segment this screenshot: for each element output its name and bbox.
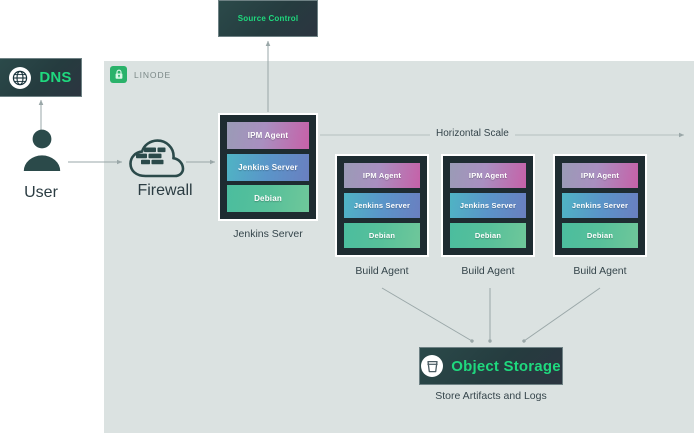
user-label: User [0, 184, 82, 202]
layer-ipm-agent: IPM Agent [227, 122, 309, 149]
layer-jenkins-server: Jenkins Server [344, 193, 420, 218]
layer-ipm-agent: IPM Agent [562, 163, 638, 188]
globe-icon [9, 67, 31, 89]
object-storage-node[interactable]: Object Storage [419, 347, 563, 385]
layer-debian: Debian [450, 223, 526, 248]
linode-provider-label: LINODE [134, 70, 171, 80]
lock-icon [110, 66, 127, 83]
build-agent-caption-1: Build Agent [335, 265, 429, 277]
firewall-cloud-icon [128, 138, 200, 180]
object-storage-label: Object Storage [451, 358, 561, 375]
horizontal-scale-label: Horizontal Scale [430, 128, 515, 139]
build-agent-stack-1[interactable]: IPM Agent Jenkins Server Debian [335, 154, 429, 257]
source-control-node[interactable]: Source Control [218, 0, 318, 37]
source-control-label: Source Control [238, 14, 299, 23]
layer-jenkins-server: Jenkins Server [450, 193, 526, 218]
layer-ipm-agent: IPM Agent [450, 163, 526, 188]
layer-debian: Debian [344, 223, 420, 248]
architecture-diagram-canvas: LINODE DNS Source Control User [0, 0, 694, 433]
bucket-icon [421, 355, 443, 377]
layer-jenkins-server: Jenkins Server [562, 193, 638, 218]
layer-debian: Debian [562, 223, 638, 248]
build-agent-caption-3: Build Agent [553, 265, 647, 277]
layer-debian: Debian [227, 185, 309, 212]
layer-ipm-agent: IPM Agent [344, 163, 420, 188]
dns-node[interactable]: DNS [0, 58, 82, 97]
user-icon [22, 128, 62, 172]
firewall-label: Firewall [118, 182, 212, 200]
layer-jenkins-server: Jenkins Server [227, 154, 309, 181]
jenkins-server-stack[interactable]: IPM Agent Jenkins Server Debian [218, 113, 318, 221]
build-agent-stack-3[interactable]: IPM Agent Jenkins Server Debian [553, 154, 647, 257]
jenkins-server-caption: Jenkins Server [210, 228, 326, 240]
build-agent-stack-2[interactable]: IPM Agent Jenkins Server Debian [441, 154, 535, 257]
build-agent-caption-2: Build Agent [441, 265, 535, 277]
dns-label: DNS [39, 69, 71, 86]
object-storage-caption: Store Artifacts and Logs [411, 390, 571, 402]
